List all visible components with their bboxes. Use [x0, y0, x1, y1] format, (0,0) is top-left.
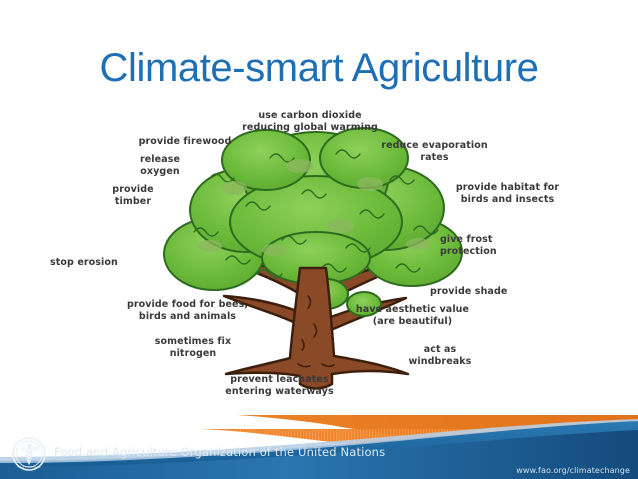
- svg-text:A: A: [27, 443, 32, 451]
- fao-emblem-icon: F A O F I A T P A N I S: [12, 437, 46, 471]
- label-provide-shade: provide shade: [430, 286, 580, 298]
- tree-trunk: [226, 268, 408, 389]
- presentation-slide: Climate-smart Agriculture: [0, 0, 638, 479]
- label-provide-firewood: provide firewood: [110, 136, 260, 148]
- slide-footer: F A O F I A T P A N I S Food and Agricul…: [0, 415, 638, 479]
- label-provide-food-for-bees: provide food for bees, birds and animals: [100, 299, 275, 323]
- label-provide-habitat: provide habitat for birds and insects: [420, 182, 595, 206]
- page-title: Climate-smart Agriculture: [0, 46, 638, 91]
- label-use-carbon-dioxide: use carbon dioxide reducing global warmi…: [230, 110, 390, 134]
- tree-benefits-diagram: use carbon dioxide reducing global warmi…: [0, 104, 638, 412]
- label-prevent-leachates: prevent leachates entering waterways: [192, 374, 367, 398]
- svg-text:F I A T P A N I S: F I A T P A N I S: [17, 465, 40, 469]
- svg-text:F: F: [22, 445, 26, 453]
- label-act-as-windbreaks: act as windbreaks: [370, 344, 510, 368]
- label-sometimes-fix-nitrogen: sometimes fix nitrogen: [128, 336, 258, 360]
- label-have-aesthetic-value: have aesthetic value (are beautiful): [330, 304, 495, 328]
- website-url[interactable]: www.fao.org/climatechange: [516, 466, 630, 475]
- label-release-oxygen: release oxygen: [100, 154, 220, 178]
- label-provide-timber: provide timber: [78, 184, 188, 208]
- label-reduce-evaporation-rates: reduce evaporation rates: [352, 140, 517, 164]
- label-give-frost-protection: give frost protection: [440, 234, 570, 258]
- label-stop-erosion: stop erosion: [50, 257, 175, 269]
- organization-name: Food and Agriculture Organization of the…: [54, 445, 385, 459]
- svg-text:O: O: [33, 445, 39, 453]
